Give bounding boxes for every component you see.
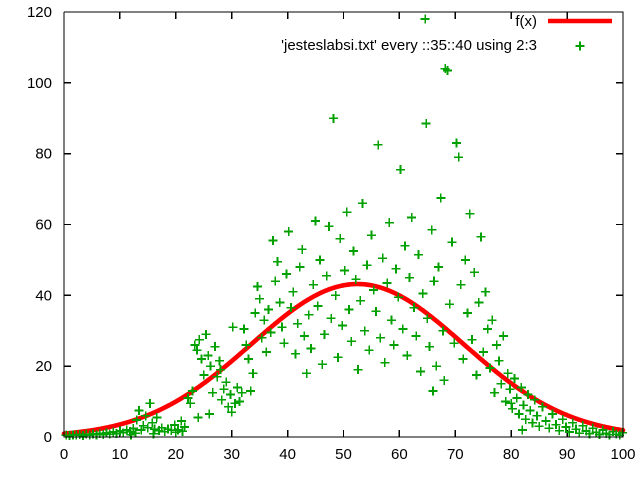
- y-axis-tick-label: 120: [27, 4, 52, 21]
- x-axis-tick-label: 90: [559, 446, 576, 463]
- y-axis-tick-label: 80: [35, 146, 52, 163]
- x-axis-tick-label: 70: [447, 446, 464, 463]
- plot-canvas: 0102030405060708090100020406080100120 f(…: [0, 0, 640, 480]
- x-axis-tick-label: 100: [610, 446, 635, 463]
- y-axis-tick-label: 40: [35, 287, 52, 304]
- plot-background: [0, 0, 640, 480]
- x-axis-tick-label: 50: [335, 446, 352, 463]
- y-axis-tick-label: 20: [35, 358, 52, 375]
- x-axis-tick-label: 60: [391, 446, 408, 463]
- x-axis-tick-label: 80: [503, 446, 520, 463]
- y-axis-tick-label: 60: [35, 217, 52, 234]
- gnuplot-chart: 0102030405060708090100020406080100120 f(…: [0, 0, 640, 480]
- legend-label-fx: f(x): [515, 13, 537, 30]
- x-axis-tick-label: 20: [167, 446, 184, 463]
- x-axis-tick-label: 30: [223, 446, 240, 463]
- x-axis-tick-label: 40: [279, 446, 296, 463]
- y-axis-tick-label: 0: [44, 429, 52, 446]
- x-axis-tick-label: 0: [60, 446, 68, 463]
- y-axis-tick-label: 100: [27, 75, 52, 92]
- legend-label-data: 'jesteslabsi.txt' every ::35::40 using 2…: [281, 37, 537, 54]
- x-axis-tick-label: 10: [112, 446, 129, 463]
